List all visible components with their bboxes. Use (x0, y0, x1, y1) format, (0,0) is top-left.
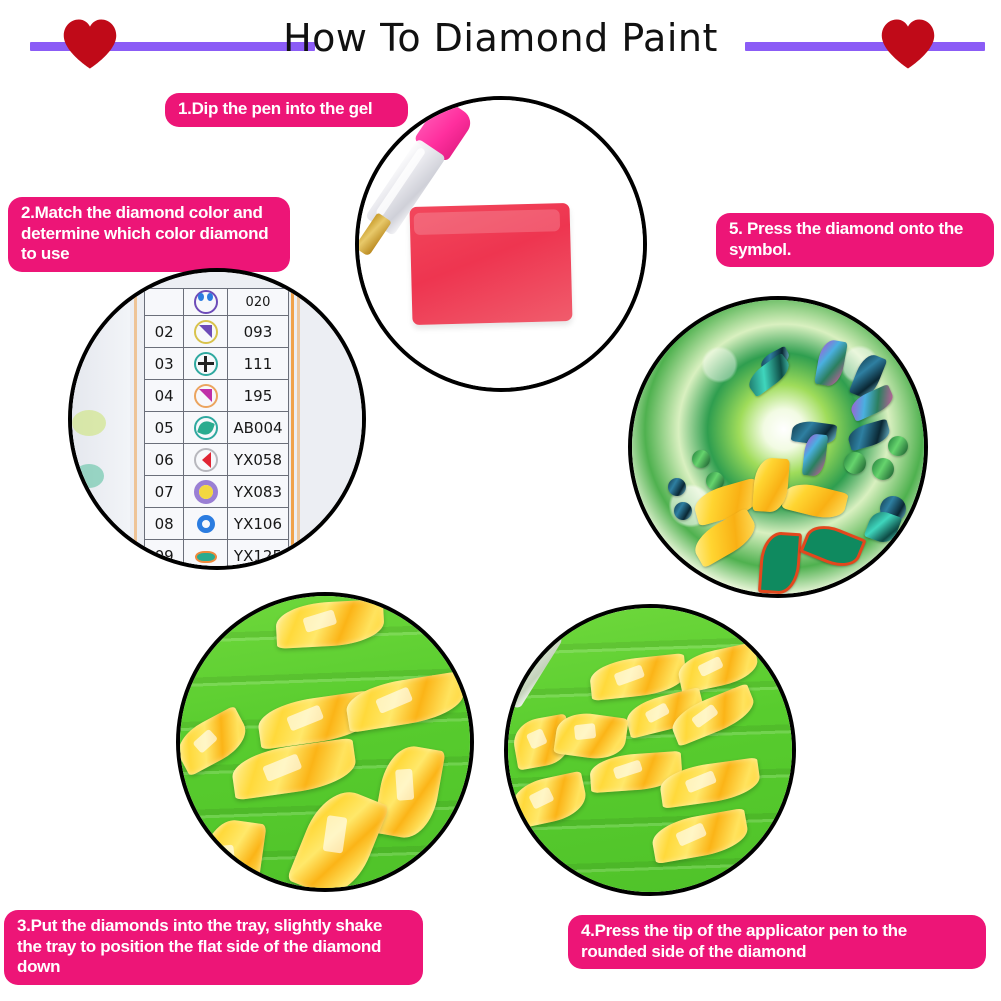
chart-guide-line (134, 272, 137, 566)
page-title: How To Diamond Paint (0, 16, 1001, 60)
photo-pen-picking-up-diamond (504, 604, 796, 896)
arrow-left-icon (193, 447, 219, 473)
cell-code: 111 (227, 348, 288, 380)
cell-number: 07 (145, 476, 184, 508)
rhinestone (692, 450, 710, 468)
table-row: 09 YX125 (145, 540, 289, 571)
header: How To Diamond Paint (0, 0, 1001, 90)
cell-code: 093 (227, 316, 288, 348)
step-label-3: 3.Put the diamonds into the tray, slight… (4, 910, 423, 985)
printed-color-blob (72, 410, 106, 436)
table-row: 05 AB004 (145, 412, 289, 444)
cell-number: 08 (145, 508, 184, 540)
cell-symbol (184, 412, 228, 444)
leaf-icon (193, 415, 219, 441)
cell-code: YX058 (227, 444, 288, 476)
photo-pressing-diamond-onto-canvas (628, 296, 928, 598)
cell-number: 05 (145, 412, 184, 444)
photo-diamonds-in-tray (176, 592, 474, 892)
cell-code: YX106 (227, 508, 288, 540)
rhinestone (844, 452, 866, 474)
triangle-icon (193, 319, 219, 345)
table-row: 02 093 (145, 316, 289, 348)
infographic-page: How To Diamond Paint 1.Dip the pen into … (0, 0, 1001, 1001)
photo-pen-dipping-into-gel (355, 96, 647, 392)
rhinestone (888, 436, 908, 456)
cell-number: 03 (145, 348, 184, 380)
photo-color-chart-table: 020 02 093 03 (68, 268, 366, 570)
rhinestone (674, 502, 692, 520)
table-row: 03 111 (145, 348, 289, 380)
rhinestone (668, 478, 686, 496)
cell-code: YX083 (227, 476, 288, 508)
step-label-4: 4.Press the tip of the applicator pen to… (568, 915, 986, 969)
table-row: 06 YX058 (145, 444, 289, 476)
eye-leaf-icon (193, 543, 219, 569)
cell-symbol (184, 380, 228, 412)
step-label-2: 2.Match the diamond color and determine … (8, 197, 290, 272)
plus-icon (193, 351, 219, 377)
donut-icon (193, 511, 219, 537)
cell-symbol (184, 508, 228, 540)
cell-code: 020 (227, 289, 288, 316)
cell-symbol (184, 540, 228, 571)
smile-icon (193, 289, 219, 315)
step-label-5: 5. Press the diamond onto the symbol. (716, 213, 994, 267)
table-row: 07 YX083 (145, 476, 289, 508)
table-row: 020 (145, 289, 289, 316)
cell-number: 04 (145, 380, 184, 412)
cell-symbol (184, 289, 228, 316)
chart-guide-line (291, 272, 294, 566)
rhinestone (872, 458, 894, 480)
color-chart-table: 020 02 093 03 (144, 288, 289, 570)
table-row: 08 YX106 (145, 508, 289, 540)
triangle-magenta-icon (193, 383, 219, 409)
cell-symbol (184, 348, 228, 380)
cell-symbol (184, 444, 228, 476)
cell-code: YX125 (227, 540, 288, 571)
pen-tip (355, 212, 392, 256)
table-row: 04 195 (145, 380, 289, 412)
cell-symbol (184, 316, 228, 348)
cell-number (145, 289, 184, 316)
cell-code: AB004 (227, 412, 288, 444)
dot-icon (193, 479, 219, 505)
printed-color-blob (74, 464, 104, 488)
cell-symbol (184, 476, 228, 508)
chart-guide-line (297, 272, 300, 566)
gel-pad (409, 203, 572, 325)
cell-number: 06 (145, 444, 184, 476)
cell-number: 02 (145, 316, 184, 348)
cell-code: 195 (227, 380, 288, 412)
cell-number: 09 (145, 540, 184, 571)
